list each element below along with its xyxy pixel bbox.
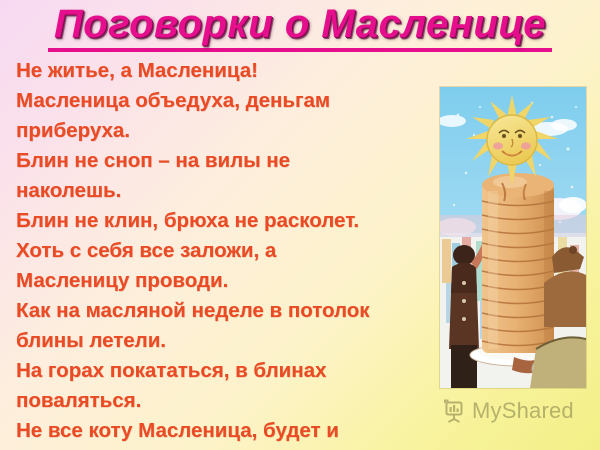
proverb-line: Блин не сноп – на вилы не xyxy=(16,146,436,176)
maslenitsa-illustration xyxy=(440,87,586,388)
proverb-line: Блин не клин, брюха не расколет. xyxy=(16,206,436,236)
title-block: Поговорки о Масленице xyxy=(0,2,600,52)
proverb-line: Хоть с себя все заложи, а xyxy=(16,236,436,266)
maslenitsa-illustration-drawing xyxy=(440,87,586,388)
watermark: MyShared xyxy=(440,398,574,424)
proverb-line: Великий пост. xyxy=(16,446,436,450)
watermark-label: MyShared xyxy=(472,398,574,424)
pancake-stack xyxy=(470,173,566,366)
proverb-line: поваляться. xyxy=(16,386,436,416)
presentation-slide: Поговорки о Масленице Не житье, а Маслен… xyxy=(0,0,600,450)
proverb-line: На горах покататься, в блинах xyxy=(16,356,436,386)
presentation-chart-icon xyxy=(440,398,466,424)
proverb-line: Масленицу проводи. xyxy=(16,266,436,296)
proverb-line: приберуха. xyxy=(16,116,436,146)
proverb-line: блины летели. xyxy=(16,326,436,356)
proverb-list: Не житье, а Масленица! Масленица объедух… xyxy=(16,56,436,450)
proverb-line: Не все коту Масленица, будет и xyxy=(16,416,436,446)
proverb-line: Масленица объедуха, деньгам xyxy=(16,86,436,116)
proverb-line: Как на масляной неделе в потолок xyxy=(16,296,436,326)
proverb-line: Не житье, а Масленица! xyxy=(16,56,436,86)
proverb-line: наколешь. xyxy=(16,176,436,206)
page-title: Поговорки о Масленице xyxy=(48,2,552,52)
